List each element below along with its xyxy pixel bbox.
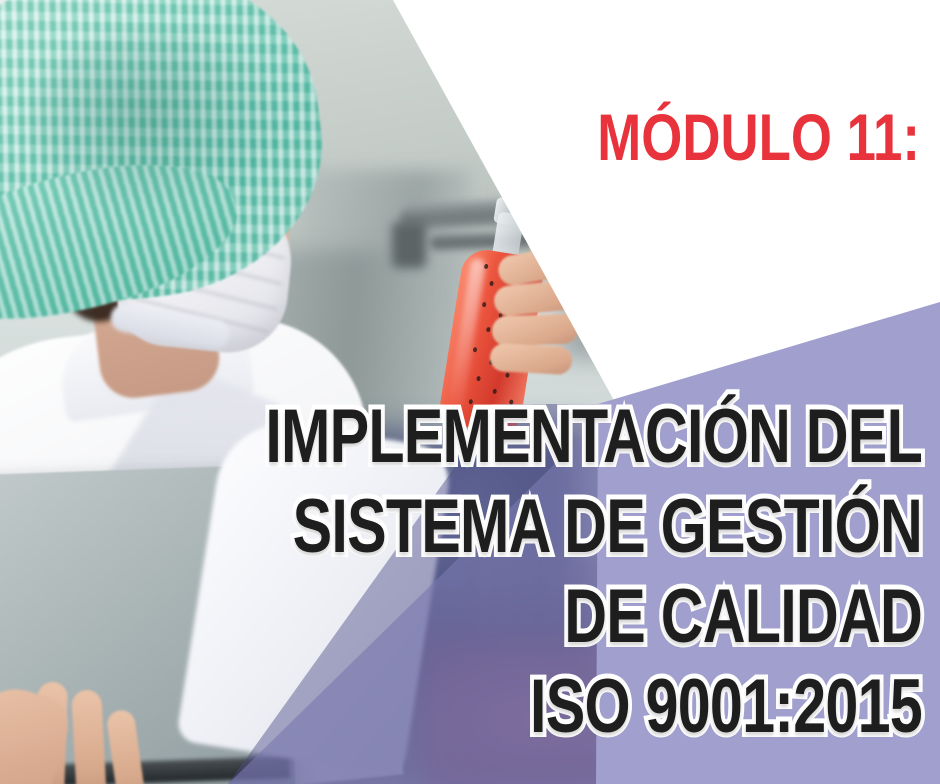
headline-line-2: SISTEMA DE GESTIÓN bbox=[203, 482, 922, 572]
headline-line-3: DE CALIDAD bbox=[203, 572, 922, 662]
headline-line-4: ISO 9001:2015 bbox=[203, 662, 922, 752]
poster-headline: IMPLEMENTACIÓN DEL SISTEMA DE GESTIÓN DE… bbox=[0, 392, 922, 752]
module-kicker: MÓDULO 11: bbox=[184, 104, 920, 170]
headline-line-1: IMPLEMENTACIÓN DEL bbox=[203, 392, 922, 482]
course-module-poster: MÓDULO 11: IMPLEMENTACIÓN DEL SISTEMA DE… bbox=[0, 0, 940, 784]
photo-valve bbox=[392, 222, 426, 268]
